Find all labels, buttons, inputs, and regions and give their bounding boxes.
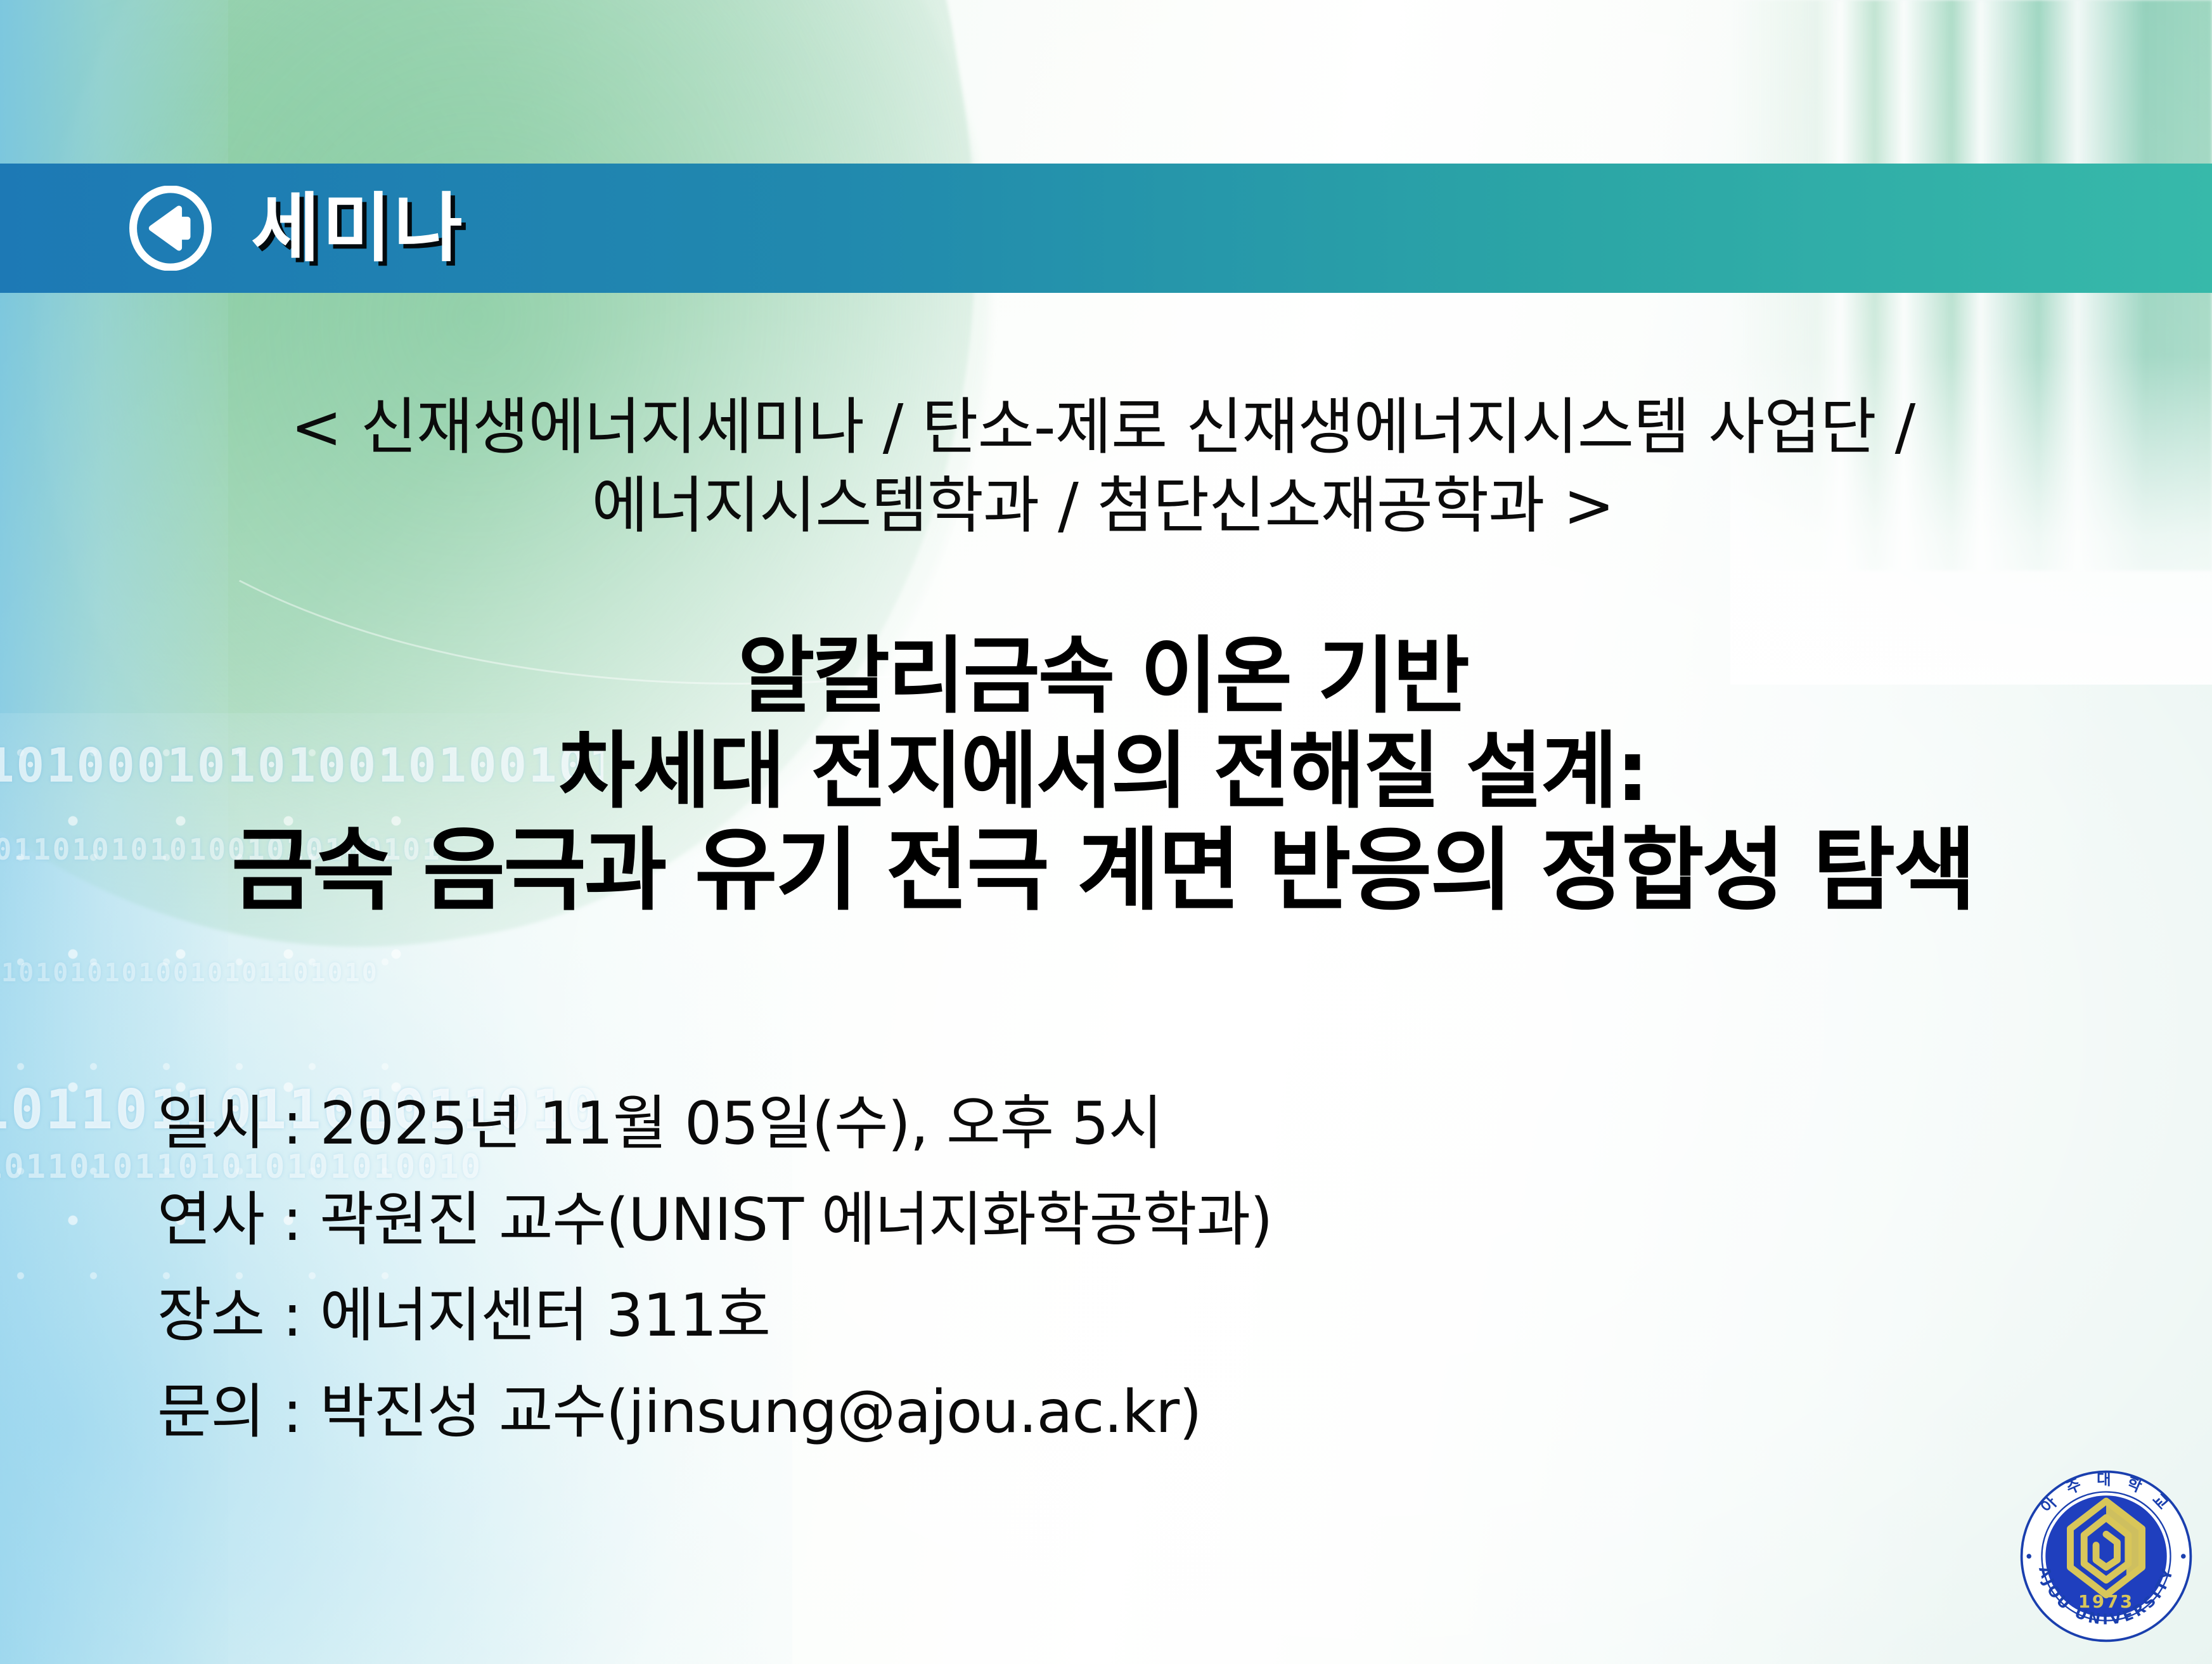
detail-venue: 장소 : 에너지센터 311호 (157, 1268, 1272, 1364)
header-bar: 세미나 (0, 164, 2212, 293)
seminar-details: 일시 : 2025년 11월 05일(수), 오후 5시 연사 : 곽원진 교수… (157, 1076, 1272, 1460)
subtitle-line-1: < 신재생에너지세미나 / 탄소-제로 신재생에너지시스템 사업단 / (114, 388, 2092, 467)
ajou-emblem-svg: 1973 아 주 대 학 교 AJOU UNIVERSITY (2014, 1464, 2198, 1648)
page-title: 세미나 (251, 191, 465, 266)
seminar-poster-slide: 10100010101001010010100101 1011010101010… (0, 0, 2212, 1664)
detail-speaker: 연사 : 곽원진 교수(UNIST 에너지화학공학과) (157, 1172, 1272, 1268)
title-line-1: 알칼리금속 이온 기반 (25, 629, 2180, 724)
slide-content: < 신재생에너지세미나 / 탄소-제로 신재생에너지시스템 사업단 / 에너지시… (0, 293, 2212, 1664)
title-line-2: 차세대 전지에서의 전해질 설계: (25, 724, 2180, 819)
title-line-3: 금속 음극과 유기 전극 계면 반응의 정합성 탐색 (25, 820, 2180, 922)
detail-contact: 문의 : 박진성 교수(jinsung@ajou.ac.kr) (157, 1364, 1272, 1461)
seminar-title: 알칼리금속 이온 기반 차세대 전지에서의 전해질 설계: 금속 음극과 유기 … (25, 629, 2180, 922)
detail-datetime: 일시 : 2025년 11월 05일(수), 오후 5시 (157, 1076, 1272, 1172)
seminar-series-subtitle: < 신재생에너지세미나 / 탄소-제로 신재생에너지시스템 사업단 / 에너지시… (114, 388, 2092, 545)
back-arrow-circle-icon[interactable] (128, 186, 213, 271)
subtitle-line-2: 에너지시스템학과 / 첨단신소재공학과 > (114, 467, 2092, 545)
ajou-university-logo: 1973 아 주 대 학 교 AJOU UNIVERSITY (2014, 1464, 2198, 1648)
